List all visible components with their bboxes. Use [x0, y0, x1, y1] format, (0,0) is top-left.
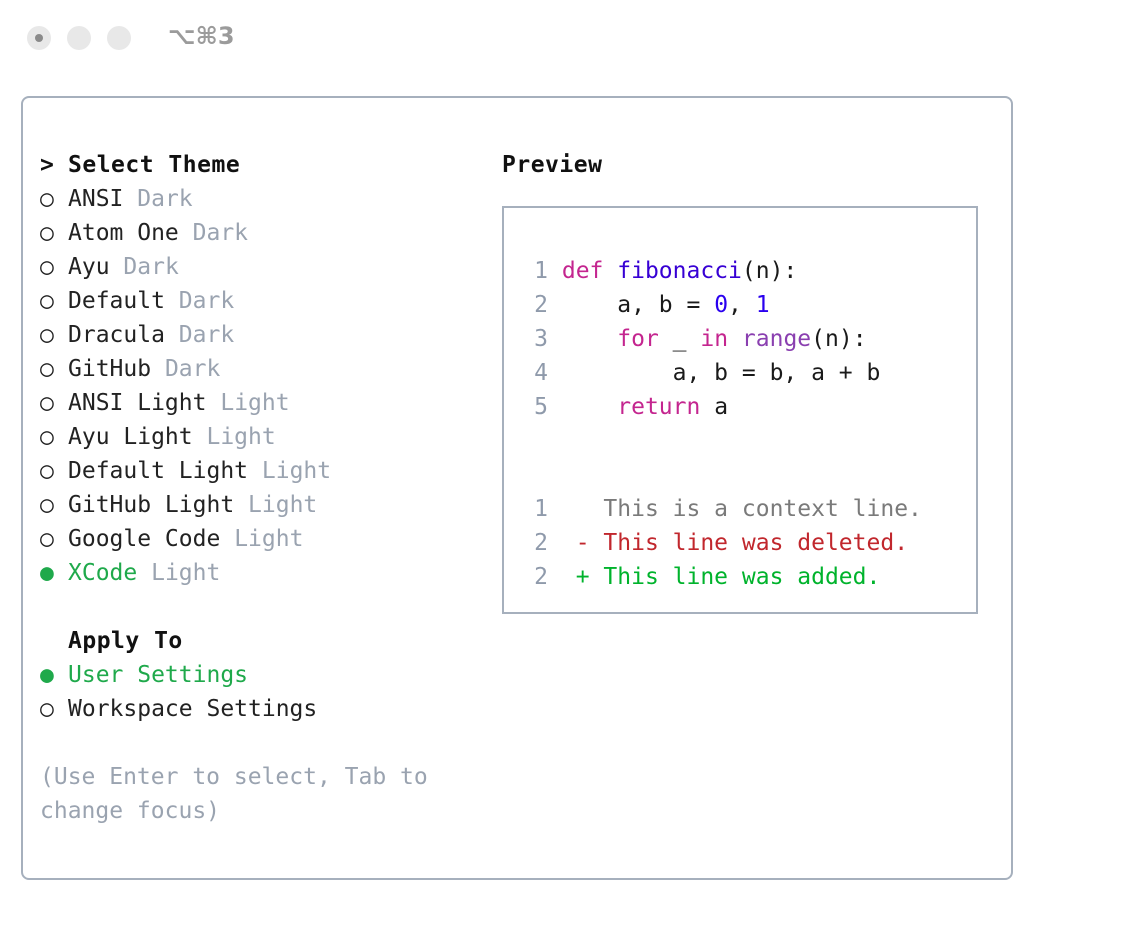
- theme-variant-badge: Light: [248, 492, 317, 518]
- theme-name: XCode: [68, 560, 137, 586]
- gutter-gap: [548, 564, 576, 590]
- theme-list-item[interactable]: ○Default Light Light: [40, 454, 510, 488]
- radio-unselected-icon: ○: [40, 182, 68, 216]
- gutter-gap: [548, 496, 576, 522]
- gutter-gap: [548, 258, 562, 284]
- spacer: [248, 458, 262, 484]
- theme-variant-badge: Light: [151, 560, 220, 586]
- theme-variant-badge: Light: [220, 390, 289, 416]
- line-number: 1: [520, 254, 548, 288]
- apply-to-label: Workspace Settings: [68, 696, 317, 722]
- diff-text: This is a context line.: [603, 496, 922, 522]
- line-number: 2: [520, 288, 548, 322]
- theme-list: ○ANSI Dark○Atom One Dark○Ayu Dark○Defaul…: [40, 182, 510, 590]
- line-number: 5: [520, 390, 548, 424]
- theme-variant-badge: Light: [206, 424, 275, 450]
- code-token: [562, 326, 617, 352]
- code-blank-line: [520, 424, 970, 458]
- line-number: 3: [520, 322, 548, 356]
- code-token: a: [700, 394, 728, 420]
- code-token: [603, 258, 617, 284]
- gutter-gap: [548, 530, 576, 556]
- theme-selector-panel: >Select Theme ○ANSI Dark○Atom One Dark○A…: [21, 96, 1013, 880]
- theme-name: Ayu Light: [68, 424, 193, 450]
- theme-list-item[interactable]: ●XCode Light: [40, 556, 510, 590]
- radio-unselected-icon: ○: [40, 420, 68, 454]
- apply-to-list: ●User Settings○Workspace Settings: [40, 658, 510, 726]
- diff-text: This line was added.: [603, 564, 880, 590]
- active-dot-indicator: [35, 34, 43, 42]
- code-line: 3 for _ in range(n):: [520, 322, 970, 356]
- code-blank-line: [520, 458, 970, 492]
- theme-name: ANSI Light: [68, 390, 206, 416]
- theme-name: Default Light: [68, 458, 248, 484]
- theme-variant-badge: Dark: [137, 186, 192, 212]
- radio-unselected-icon: ○: [40, 216, 68, 250]
- code-token: 0: [714, 292, 728, 318]
- code-token: _: [659, 326, 701, 352]
- code-line: 1 def fibonacci(n):: [520, 254, 970, 288]
- code-token: return: [617, 394, 700, 420]
- code-token: for: [617, 326, 659, 352]
- theme-name: GitHub Light: [68, 492, 234, 518]
- theme-list-item[interactable]: ○Ayu Light Light: [40, 420, 510, 454]
- diff-line: 2 - This line was deleted.: [520, 526, 970, 560]
- radio-unselected-icon: ○: [40, 318, 68, 352]
- theme-variant-badge: Dark: [193, 220, 248, 246]
- code-token: 1: [756, 292, 770, 318]
- code-line: 2 a, b = 0, 1: [520, 288, 970, 322]
- spacer: [151, 356, 165, 382]
- theme-list-item[interactable]: ○Google Code Light: [40, 522, 510, 556]
- window-minimize-button[interactable]: [67, 26, 91, 50]
- code-token: [728, 326, 742, 352]
- line-number: 2: [520, 560, 548, 594]
- code-token: a, b =: [562, 292, 714, 318]
- radio-unselected-icon: ○: [40, 250, 68, 284]
- theme-list-item[interactable]: ○ANSI Dark: [40, 182, 510, 216]
- theme-variant-badge: Light: [262, 458, 331, 484]
- gutter-gap: [548, 360, 562, 386]
- window-close-button[interactable]: [27, 26, 51, 50]
- radio-unselected-icon: ○: [40, 352, 68, 386]
- spacer: [123, 186, 137, 212]
- theme-list-column: >Select Theme ○ANSI Dark○Atom One Dark○A…: [40, 148, 510, 828]
- theme-name: Ayu: [68, 254, 110, 280]
- diff-marker: +: [576, 564, 604, 590]
- keyboard-shortcut-label: ⌥⌘3: [168, 22, 235, 50]
- radio-selected-icon: ●: [40, 658, 68, 692]
- theme-name: Dracula: [68, 322, 165, 348]
- apply-to-item[interactable]: ●User Settings: [40, 658, 510, 692]
- code-line: 5 return a: [520, 390, 970, 424]
- radio-selected-icon: ●: [40, 556, 68, 590]
- code-token: in: [700, 326, 728, 352]
- theme-name: GitHub: [68, 356, 151, 382]
- theme-list-item[interactable]: ○ANSI Light Light: [40, 386, 510, 420]
- apply-to-heading-label: Apply To: [68, 628, 183, 654]
- gutter-gap: [548, 292, 562, 318]
- theme-list-item[interactable]: ○Dracula Dark: [40, 318, 510, 352]
- diff-marker: [576, 496, 604, 522]
- radio-unselected-icon: ○: [40, 284, 68, 318]
- theme-variant-badge: Dark: [123, 254, 178, 280]
- line-number: 4: [520, 356, 548, 390]
- theme-list-item[interactable]: ○GitHub Light Light: [40, 488, 510, 522]
- gutter-gap: [548, 394, 562, 420]
- preview-heading: Preview: [502, 148, 997, 182]
- preview-code-box: 1 def fibonacci(n):2 a, b = 0, 13 for _ …: [502, 206, 978, 614]
- gutter-gap: [548, 326, 562, 352]
- theme-list-item[interactable]: ○GitHub Dark: [40, 352, 510, 386]
- spacer: [179, 220, 193, 246]
- spacer: [220, 526, 234, 552]
- spacer: [234, 492, 248, 518]
- preview-column: Preview 1 def fibonacci(n):2 a, b = 0, 1…: [502, 148, 997, 614]
- theme-name: Google Code: [68, 526, 220, 552]
- code-token: a, b = b, a + b: [562, 360, 881, 386]
- theme-name: ANSI: [68, 186, 123, 212]
- line-number: 1: [520, 492, 548, 526]
- radio-unselected-icon: ○: [40, 522, 68, 556]
- apply-to-label: User Settings: [68, 662, 248, 688]
- select-theme-heading-label: Select Theme: [68, 152, 240, 178]
- diff-line: 2 + This line was added.: [520, 560, 970, 594]
- spacer: [110, 254, 124, 280]
- radio-unselected-icon: ○: [40, 386, 68, 420]
- theme-list-item[interactable]: ○Ayu Dark: [40, 250, 510, 284]
- theme-variant-badge: Dark: [165, 356, 220, 382]
- code-token: [562, 394, 617, 420]
- theme-name: Default: [68, 288, 165, 314]
- code-token: (n):: [742, 258, 797, 284]
- apply-to-item[interactable]: ○Workspace Settings: [40, 692, 510, 726]
- radio-unselected-icon: ○: [40, 488, 68, 522]
- code-token: range: [742, 326, 811, 352]
- theme-variant-badge: Dark: [179, 288, 234, 314]
- code-token: (n):: [811, 326, 866, 352]
- apply-to-heading: ○Apply To: [40, 624, 510, 658]
- theme-variant-badge: Dark: [179, 322, 234, 348]
- select-theme-heading: >Select Theme: [40, 148, 510, 182]
- diff-text: This line was deleted.: [603, 530, 908, 556]
- line-number: 2: [520, 526, 548, 560]
- radio-unselected-icon: ○: [40, 692, 68, 726]
- app-window: ⌥⌘3 >Select Theme ○ANSI Dark○Atom One Da…: [0, 0, 1140, 934]
- spacer: [165, 322, 179, 348]
- spacer: [137, 560, 151, 586]
- window-maximize-button[interactable]: [107, 26, 131, 50]
- prompt-caret-icon: >: [40, 148, 68, 182]
- spacer: [206, 390, 220, 416]
- code-token: ,: [728, 292, 756, 318]
- code-token: fibonacci: [617, 258, 742, 284]
- radio-unselected-icon: ○: [40, 454, 68, 488]
- diff-line: 1 This is a context line.: [520, 492, 970, 526]
- theme-name: Atom One: [68, 220, 179, 246]
- code-line: 4 a, b = b, a + b: [520, 356, 970, 390]
- spacer: [165, 288, 179, 314]
- code-sample: 1 def fibonacci(n):2 a, b = 0, 13 for _ …: [520, 254, 970, 594]
- code-token: def: [562, 258, 604, 284]
- theme-list-item[interactable]: ○Default Dark: [40, 284, 510, 318]
- spacer: [193, 424, 207, 450]
- diff-marker: -: [576, 530, 604, 556]
- theme-variant-badge: Light: [234, 526, 303, 552]
- theme-list-item[interactable]: ○Atom One Dark: [40, 216, 510, 250]
- keyboard-hint-text: (Use Enter to select, Tab to change focu…: [40, 760, 460, 828]
- title-bar: ⌥⌘3: [0, 0, 1140, 78]
